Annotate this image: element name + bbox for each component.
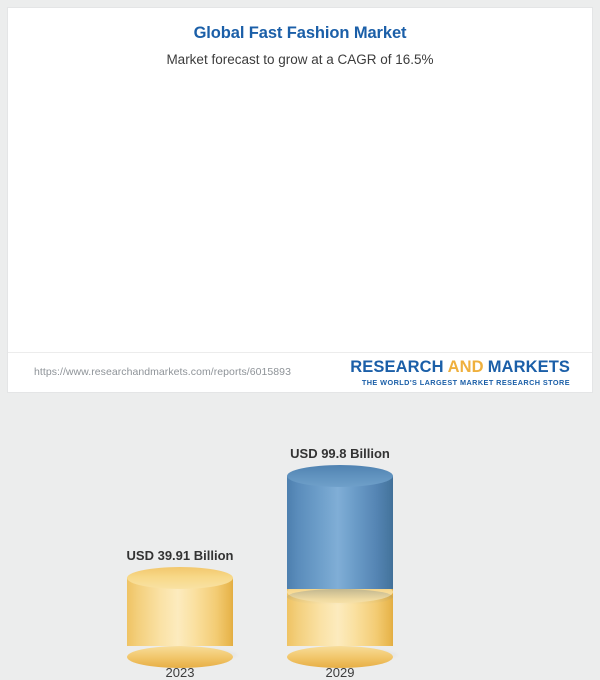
chart-plot-area: USD 39.91 Billion 2023 USD 99.8 Billion — [8, 8, 592, 352]
value-label-2029: USD 99.8 Billion — [260, 446, 420, 461]
bar-segment-2023-base — [127, 578, 233, 657]
bar-segment-seam — [287, 589, 393, 605]
logo-word-research: RESEARCH — [350, 358, 443, 376]
logo-tagline: THE WORLD'S LARGEST MARKET RESEARCH STOR… — [350, 378, 570, 387]
cylinder-2023 — [127, 578, 233, 657]
research-and-markets-logo[interactable]: RESEARCHANDMARKETS THE WORLD'S LARGEST M… — [350, 359, 570, 387]
category-label-2023: 2023 — [100, 665, 260, 680]
logo-word-markets: MARKETS — [488, 358, 570, 376]
cylinder-2029 — [287, 476, 393, 657]
source-url-text[interactable]: https://www.researchandmarkets.com/repor… — [34, 366, 291, 378]
logo-wordmark: RESEARCHANDMARKETS — [350, 359, 570, 376]
chart-card: Global Fast Fashion Market Market foreca… — [8, 8, 592, 392]
chart-footer: https://www.researchandmarkets.com/repor… — [8, 352, 592, 393]
value-label-2023: USD 39.91 Billion — [100, 548, 260, 563]
category-label-2029: 2029 — [260, 665, 420, 680]
bar-segment-2029-growth — [287, 476, 393, 589]
logo-word-and: AND — [448, 358, 484, 376]
